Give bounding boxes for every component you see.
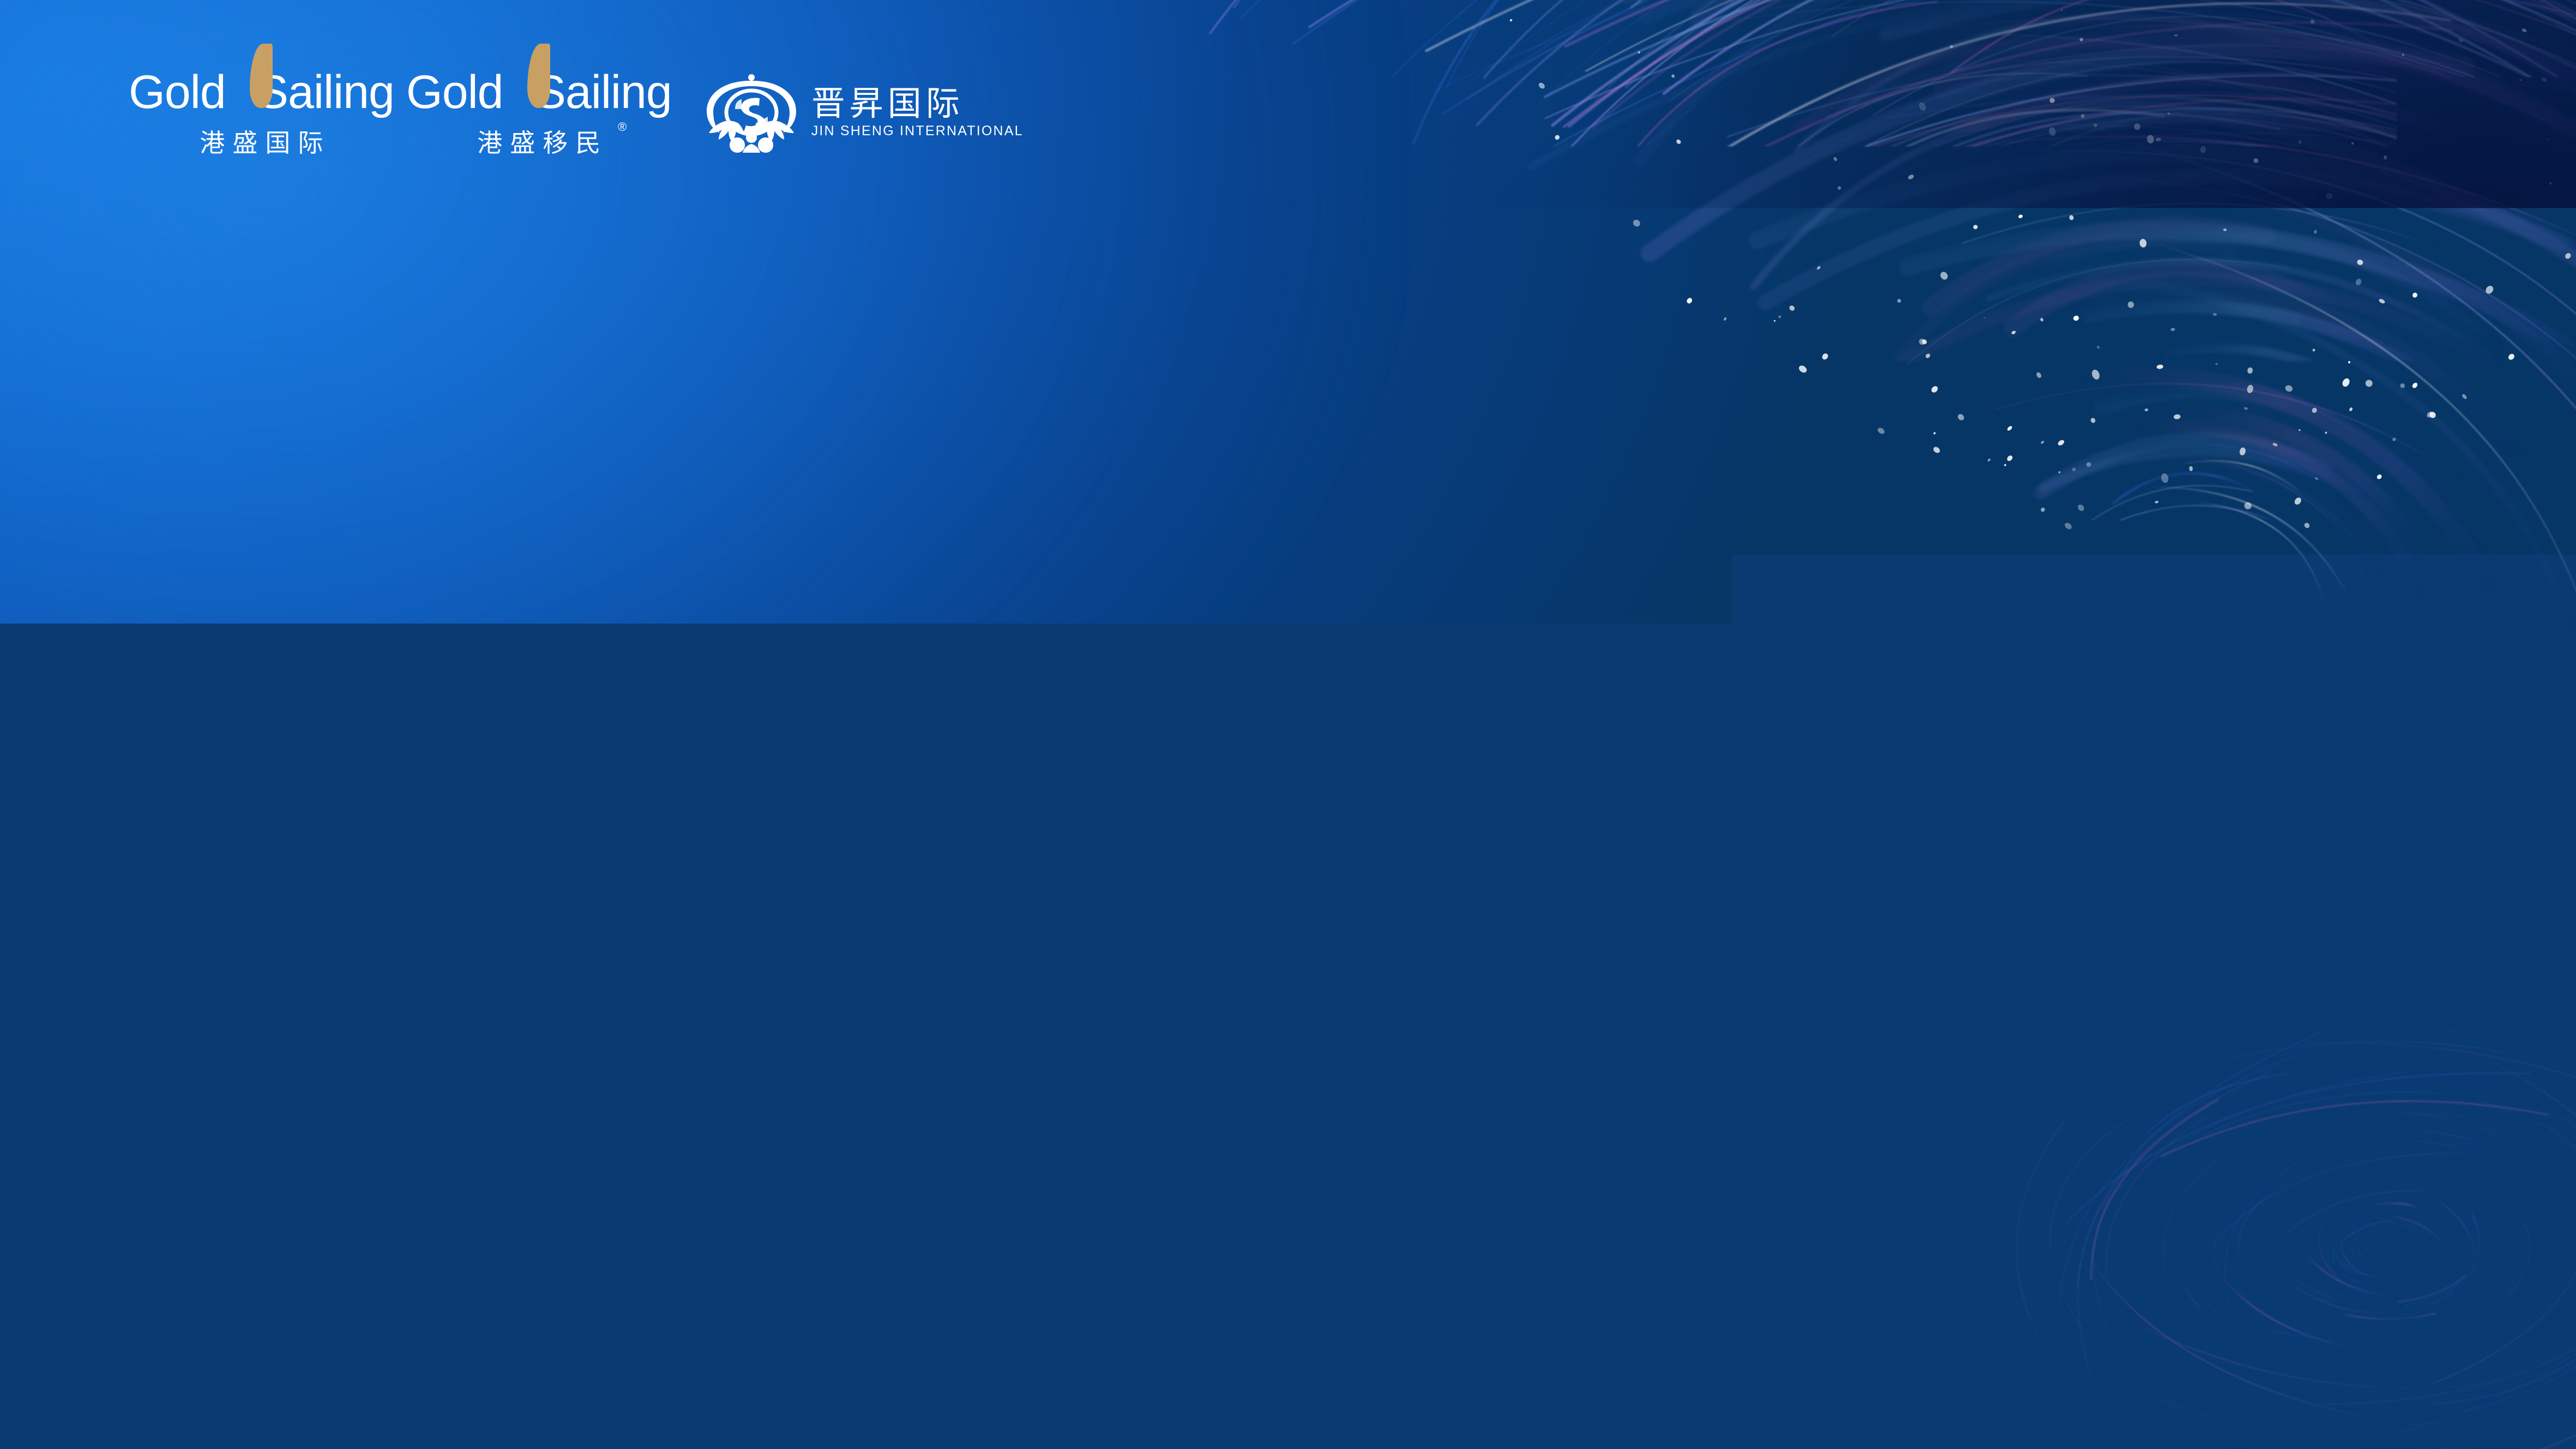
gold-sailing-wordmark: Gold Sailing xyxy=(129,69,394,116)
logo-bar: Gold Sailing 港盛国际 Gold Sailing 港盛移民® xyxy=(129,69,1024,159)
main-title-block: 出海有道 合规护航 xyxy=(256,327,1729,938)
subtitle-chinese: 2021港盛国际百企跨境税筹训战营-上海站 xyxy=(278,1007,1843,1090)
jin-sheng-emblem-icon xyxy=(703,71,799,154)
logo-jin-sheng-international[interactable]: 晋昇国际 JIN SHENG INTERNATIONAL xyxy=(703,69,1024,154)
logo-word-sailing: Sailing xyxy=(535,69,672,116)
logo-word-gold: Gold xyxy=(406,69,535,116)
title-char: 出 xyxy=(256,306,487,538)
title-char: 合 xyxy=(558,535,788,768)
title-char: 航 xyxy=(1220,520,1455,735)
bokeh-bubble xyxy=(2285,1053,2376,1144)
logo-word-gold: Gold xyxy=(129,69,257,116)
logo-chinese-name-text: 港盛移民 xyxy=(477,129,608,157)
logo-gold-sailing-international[interactable]: Gold Sailing 港盛国际 xyxy=(129,69,394,159)
sailboat-icon xyxy=(2143,513,2285,769)
gold-sailing-wordmark: Gold Sailing xyxy=(406,69,672,116)
bokeh-bubble xyxy=(2228,1096,2280,1149)
jin-sheng-chinese-name: 晋昇国际 xyxy=(811,87,1024,121)
bokeh-bubble xyxy=(2405,1243,2530,1325)
registered-trademark-icon: ® xyxy=(610,120,627,134)
title-char: 有 xyxy=(696,302,915,528)
jin-sheng-text-block: 晋昇国际 JIN SHENG INTERNATIONAL xyxy=(811,87,1024,138)
title-char: 海 xyxy=(479,332,697,540)
subtitle-chinese-text: 港盛国际百企跨境税筹训战营-上海站 xyxy=(470,1002,1843,1095)
banner-canvas: Gold Sailing 港盛国际 Gold Sailing 港盛移民® xyxy=(0,0,2576,1449)
logo-chinese-name: 港盛国际 xyxy=(192,123,330,159)
logo-gold-sailing-immigration[interactable]: Gold Sailing 港盛移民® xyxy=(406,69,672,159)
jin-sheng-english-name: JIN SHENG INTERNATIONAL xyxy=(811,124,1024,138)
subtitle-year: 2021 xyxy=(278,1002,467,1095)
title-char: 规 xyxy=(783,531,1007,739)
title-line-2: 合规护航 xyxy=(557,521,1454,748)
title-char: 护 xyxy=(997,501,1236,740)
logo-chinese-name: 港盛移民® xyxy=(470,123,608,159)
subtitle-english: 2021 Gangsheng international 100 enterpr… xyxy=(284,1102,1641,1141)
logo-word-sailing: Sailing xyxy=(257,69,394,116)
